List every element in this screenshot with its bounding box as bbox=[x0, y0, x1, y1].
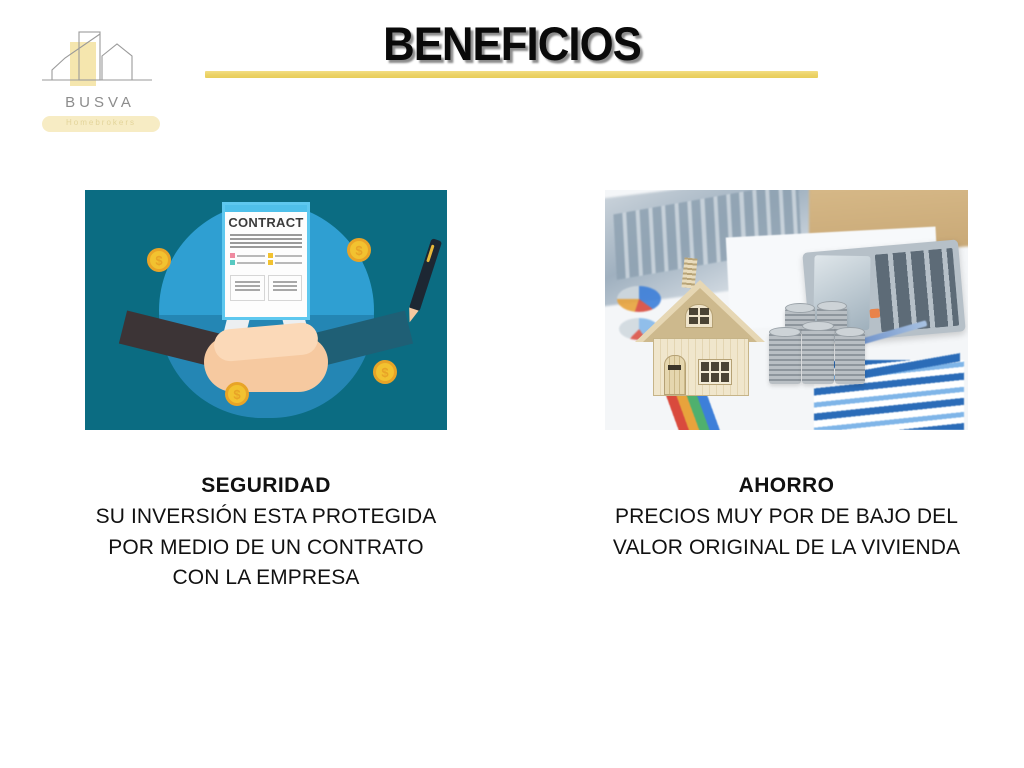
area-chart-graphic bbox=[850, 344, 960, 384]
model-house bbox=[641, 264, 759, 396]
calculator-keypad bbox=[875, 248, 960, 333]
checkbox-rule bbox=[237, 262, 265, 264]
coin-stack-top bbox=[835, 327, 865, 337]
house-window bbox=[698, 359, 732, 385]
benefit-heading: AHORRO bbox=[605, 472, 968, 500]
coin-stack-top bbox=[785, 303, 815, 313]
illustration-canvas: CONTRACT bbox=[85, 190, 447, 430]
document-block-columns bbox=[230, 272, 302, 301]
document-signature-block bbox=[230, 275, 265, 301]
document-checkbox-columns bbox=[230, 253, 302, 267]
checkbox-swatch bbox=[268, 260, 273, 265]
document-text-line bbox=[230, 246, 302, 248]
title-underline-rule bbox=[205, 71, 818, 78]
coin-icon: $ bbox=[225, 382, 249, 406]
photo-canvas bbox=[605, 190, 968, 430]
document-checkbox-column bbox=[268, 253, 303, 267]
document-header-bar bbox=[225, 205, 307, 212]
house-gable-window bbox=[685, 304, 713, 328]
coin-stack-top bbox=[817, 301, 847, 311]
checkbox-rule bbox=[275, 262, 303, 264]
contract-label: CONTRACT bbox=[225, 215, 307, 230]
benefit-card-seguridad: CONTRACT bbox=[85, 190, 447, 594]
coin-stack bbox=[802, 326, 834, 384]
checkbox-swatch bbox=[230, 260, 235, 265]
checkbox-swatch bbox=[230, 253, 235, 258]
coin-stack bbox=[769, 332, 801, 384]
document-block-column bbox=[268, 272, 303, 301]
benefit-heading: SEGURIDAD bbox=[85, 472, 447, 500]
coin-icon: $ bbox=[373, 360, 397, 384]
document-checkbox-row bbox=[268, 253, 303, 258]
house-door bbox=[664, 355, 686, 395]
logo-wordmark: BUSVA bbox=[30, 94, 170, 111]
document-checkbox-row bbox=[230, 253, 265, 258]
document-block-column bbox=[230, 272, 265, 301]
coin-stack-top bbox=[769, 327, 801, 337]
benefit-card-ahorro: AHORRO PRECIOS MUY POR DE BAJO DEL VALOR… bbox=[605, 190, 968, 563]
pen-clip bbox=[426, 244, 434, 262]
checkbox-rule bbox=[237, 255, 265, 257]
calculator-accent-key bbox=[869, 308, 880, 318]
benefit-caption: AHORRO PRECIOS MUY POR DE BAJO DEL VALOR… bbox=[605, 472, 968, 563]
checkbox-swatch bbox=[268, 253, 273, 258]
logo-tagline-pill: Homebrokers bbox=[42, 116, 160, 132]
document-text-line bbox=[230, 242, 302, 244]
coin-icon: $ bbox=[347, 238, 371, 262]
coin-stack bbox=[835, 332, 865, 384]
benefit-description: SU INVERSIÓN ESTA PROTEGIDA POR MEDIO DE… bbox=[85, 502, 447, 593]
document-signature-block bbox=[268, 275, 303, 301]
benefit-caption: SEGURIDAD SU INVERSIÓN ESTA PROTEGIDA PO… bbox=[85, 472, 447, 594]
handshake-contract-illustration: CONTRACT bbox=[85, 190, 447, 430]
document-checkbox-row bbox=[268, 260, 303, 265]
slide-canvas: { "slide": { "title": "BENEFICIOS", "bac… bbox=[0, 0, 1024, 768]
house-model-coins-photo bbox=[605, 190, 968, 430]
contract-document-icon: CONTRACT bbox=[222, 202, 310, 320]
document-checkbox-column bbox=[230, 253, 265, 267]
document-checkbox-row bbox=[230, 260, 265, 265]
house-body bbox=[653, 338, 749, 396]
coin-stack-top bbox=[802, 321, 834, 331]
document-text-line bbox=[230, 234, 302, 236]
document-text-line bbox=[230, 238, 302, 240]
house-door-slot bbox=[668, 365, 681, 370]
checkbox-rule bbox=[275, 255, 303, 257]
page-title: BENEFICIOS bbox=[36, 16, 988, 71]
coin-icon: $ bbox=[147, 248, 171, 272]
pen-icon bbox=[409, 238, 442, 312]
benefit-description: PRECIOS MUY POR DE BAJO DEL VALOR ORIGIN… bbox=[605, 502, 968, 563]
logo-tagline: Homebrokers bbox=[42, 118, 160, 127]
